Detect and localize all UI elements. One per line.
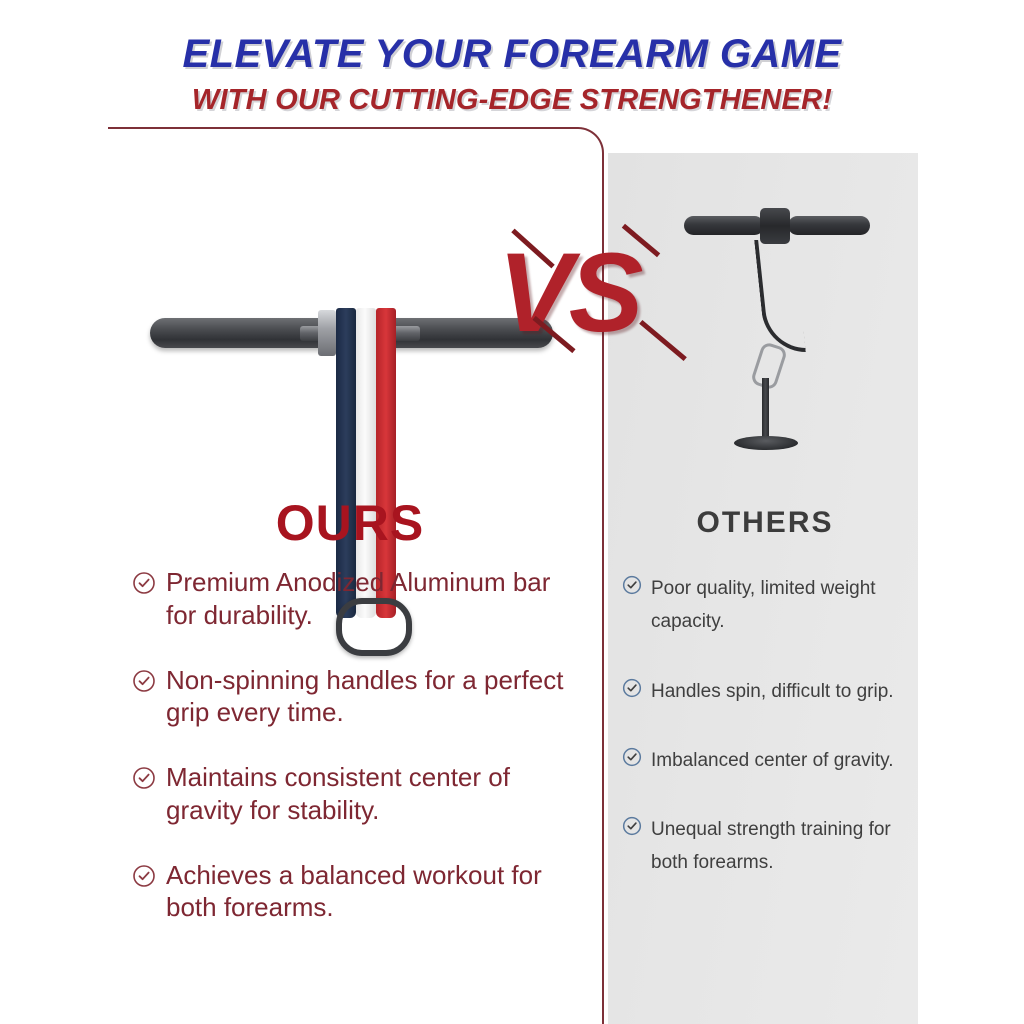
others-heading: OTHERS: [620, 506, 910, 540]
check-circle-icon: [622, 678, 642, 703]
ours-product-image: [140, 150, 560, 490]
versus-label: VS: [498, 230, 639, 355]
competitor-center-clamp: [760, 208, 790, 244]
check-circle-icon: [132, 864, 156, 893]
competitor-right-handle: [788, 216, 870, 235]
ours-feature-list: Premium Anodized Aluminum bar for durabi…: [132, 566, 584, 956]
competitor-loading-pin: [762, 378, 769, 440]
check-circle-icon: [622, 747, 642, 772]
list-item: Unequal strength training for both forea…: [622, 813, 922, 880]
others-feature-list: Poor quality, limited weight capacity. H…: [622, 572, 922, 916]
list-item: Maintains consistent center of gravity f…: [132, 761, 584, 827]
competitor-carabiner: [750, 341, 788, 391]
header: ELEVATE YOUR FOREARM GAME WITH OUR CUTTI…: [0, 0, 1024, 128]
list-item-label: Achieves a balanced workout for both for…: [166, 859, 584, 925]
list-item: Imbalanced center of gravity.: [622, 744, 922, 777]
list-item-label: Premium Anodized Aluminum bar for durabi…: [166, 566, 584, 632]
list-item: Poor quality, limited weight capacity.: [622, 572, 922, 639]
competitor-base-plate: [734, 436, 798, 450]
page-subtitle: WITH OUR CUTTING-EDGE STRENGTHENER!: [0, 84, 1024, 117]
list-item-label: Handles spin, difficult to grip.: [651, 675, 894, 708]
list-item-label: Unequal strength training for both forea…: [651, 813, 922, 880]
list-item: Achieves a balanced workout for both for…: [132, 859, 584, 925]
check-circle-icon: [132, 669, 156, 698]
versus-badge: VS: [498, 228, 718, 358]
bar-collar-left: [318, 310, 336, 356]
list-item-label: Non-spinning handles for a perfect grip …: [166, 664, 584, 730]
competitor-cable: [754, 240, 806, 352]
lightning-bolt-icon: [639, 320, 687, 361]
list-item-label: Imbalanced center of gravity.: [651, 744, 894, 777]
ours-heading: OURS: [140, 494, 560, 552]
list-item: Handles spin, difficult to grip.: [622, 675, 922, 708]
check-circle-icon: [132, 571, 156, 600]
check-circle-icon: [132, 766, 156, 795]
list-item: Premium Anodized Aluminum bar for durabi…: [132, 566, 584, 632]
list-item-label: Maintains consistent center of gravity f…: [166, 761, 584, 827]
list-item: Non-spinning handles for a perfect grip …: [132, 664, 584, 730]
list-item-label: Poor quality, limited weight capacity.: [651, 572, 922, 639]
check-circle-icon: [622, 816, 642, 841]
check-circle-icon: [622, 575, 642, 600]
page-title: ELEVATE YOUR FOREARM GAME: [0, 32, 1024, 77]
infographic-canvas: ELEVATE YOUR FOREARM GAME WITH OUR CUTTI…: [0, 0, 1024, 1024]
